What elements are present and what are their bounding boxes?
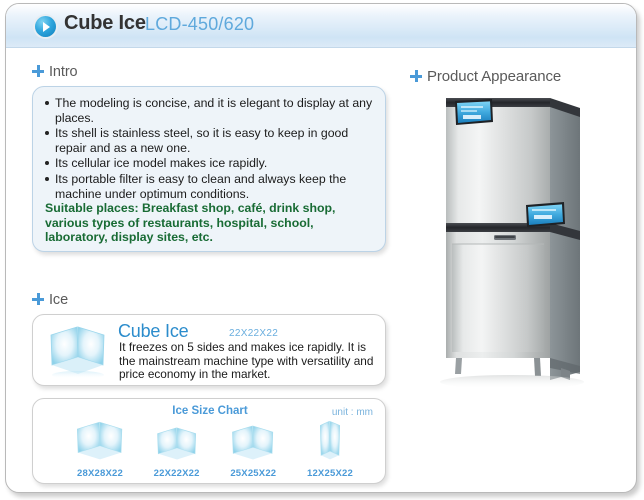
size-label: 12X25X22 <box>295 468 365 479</box>
list-item: 22X22X22 <box>142 425 212 479</box>
model-number: LCD-450/620 <box>145 14 254 35</box>
section-title-ice: Ice <box>32 292 68 308</box>
ice-size-chart-panel: Ice Size Chart unit : mm 28X28X22 <box>32 398 386 484</box>
plus-icon <box>32 293 44 305</box>
control-panel-top <box>455 99 493 125</box>
size-label: 22X22X22 <box>142 468 212 479</box>
cube-medium-icon <box>228 423 278 461</box>
list-item: Its portable filter is easy to clean and… <box>44 172 375 201</box>
page-root: Cube Ice LCD-450/620 Intro The modeling … <box>0 0 644 500</box>
cube-ice-dimension: 22X22X22 <box>229 328 278 339</box>
plus-icon <box>410 70 422 82</box>
list-item: 12X25X22 <box>295 419 365 479</box>
cube-ice-card: Cube Ice 22X22X22 It freezes on 5 sides … <box>32 314 386 386</box>
cube-large-icon <box>72 419 128 461</box>
list-item: Its cellular ice model makes ice rapidly… <box>44 156 375 171</box>
section-title-ice-label: Ice <box>49 292 68 308</box>
product-card: Cube Ice LCD-450/620 Intro The modeling … <box>5 3 637 493</box>
ice-size-chart-unit: unit : mm <box>332 407 373 418</box>
section-title-appearance-label: Product Appearance <box>427 68 561 85</box>
size-label: 25X25X22 <box>218 468 288 479</box>
list-item: 28X28X22 <box>65 419 135 479</box>
cube-tall-narrow-icon <box>317 419 343 461</box>
section-title-intro: Intro <box>32 64 78 80</box>
intro-bullet-list: The modeling is concise, and it is elega… <box>33 87 385 201</box>
intro-panel: The modeling is concise, and it is elega… <box>32 86 386 252</box>
cube-ice-illustration <box>47 321 109 381</box>
ice-machine-photo <box>430 92 598 392</box>
page-title: Cube Ice <box>64 12 146 35</box>
suitable-places-text: Suitable places: Breakfast shop, café, d… <box>45 201 377 245</box>
play-circle-icon <box>35 16 56 37</box>
list-item: The modeling is concise, and it is elega… <box>44 96 375 125</box>
plus-icon <box>32 65 44 77</box>
control-panel-bottom <box>526 202 565 227</box>
cube-ice-title: Cube Ice <box>118 321 188 342</box>
ice-size-chart-items: 28X28X22 22X22X22 25 <box>65 421 365 479</box>
section-title-appearance: Product Appearance <box>410 68 561 85</box>
size-label: 28X28X22 <box>65 468 135 479</box>
cube-ice-description: It freezes on 5 sides and makes ice rapi… <box>119 341 381 382</box>
page-header: Cube Ice LCD-450/620 <box>6 4 636 48</box>
list-item: 25X25X22 <box>218 423 288 479</box>
section-title-intro-label: Intro <box>49 64 78 80</box>
cube-medium-icon <box>153 425 201 461</box>
list-item: Its shell is stainless steel, so it is e… <box>44 126 375 155</box>
